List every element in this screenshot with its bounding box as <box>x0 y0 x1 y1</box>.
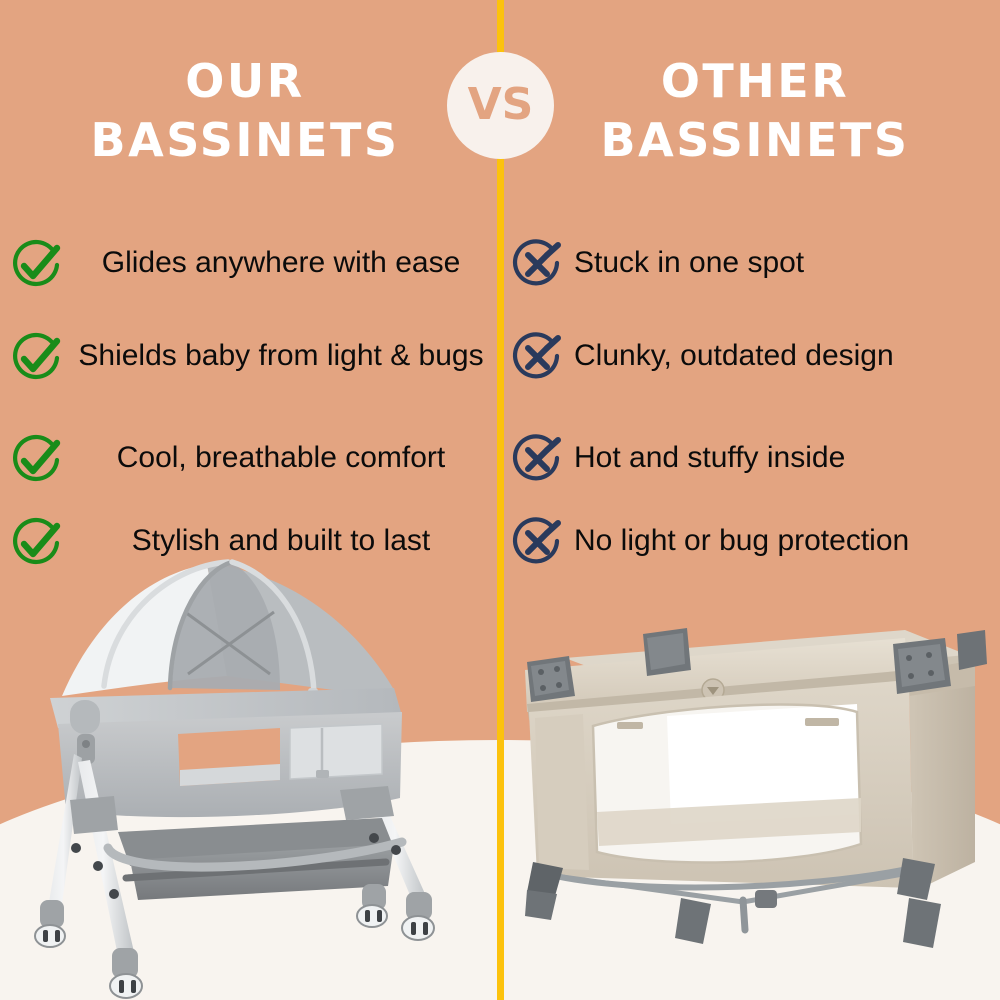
list-item-label: No light or bug protection <box>574 516 992 558</box>
product-image-our-bassinet <box>22 548 472 1000</box>
heading-right-line2: BASSINETS <box>540 111 970 170</box>
check-circle-icon <box>10 332 62 384</box>
list-item: Clunky, outdated design <box>512 331 992 384</box>
list-item-label: Hot and stuffy inside <box>574 433 992 475</box>
cross-circle-icon <box>512 434 564 486</box>
list-item: Cool, breathable comfort <box>10 433 490 486</box>
heading-right-line1: OTHER <box>540 52 970 111</box>
comparison-infographic: OUR BASSINETS OTHER BASSINETS VS Glides … <box>0 0 1000 1000</box>
list-item-label: Shields baby from light & bugs <box>72 331 490 373</box>
check-circle-icon <box>10 239 62 291</box>
heading-our-bassinets: OUR BASSINETS <box>30 52 460 170</box>
list-item-label: Clunky, outdated design <box>574 331 992 373</box>
list-item: Shields baby from light & bugs <box>10 331 490 384</box>
list-item: Hot and stuffy inside <box>512 433 992 486</box>
vs-badge: VS <box>447 52 554 159</box>
list-item-label: Glides anywhere with ease <box>72 238 490 280</box>
list-item-label: Stuck in one spot <box>574 238 992 280</box>
check-circle-icon <box>10 434 62 486</box>
vs-badge-label: VS <box>468 83 534 127</box>
cross-circle-icon <box>512 239 564 291</box>
heading-other-bassinets: OTHER BASSINETS <box>540 52 970 170</box>
list-item: Glides anywhere with ease <box>10 238 490 291</box>
cross-circle-icon <box>512 332 564 384</box>
product-image-other-bassinet <box>505 600 995 970</box>
list-item: Stuck in one spot <box>512 238 992 291</box>
list-item-label: Cool, breathable comfort <box>72 433 490 475</box>
heading-left-line1: OUR <box>30 52 460 111</box>
cross-circle-icon <box>512 517 564 569</box>
heading-left-line2: BASSINETS <box>30 111 460 170</box>
list-item: No light or bug protection <box>512 516 992 569</box>
